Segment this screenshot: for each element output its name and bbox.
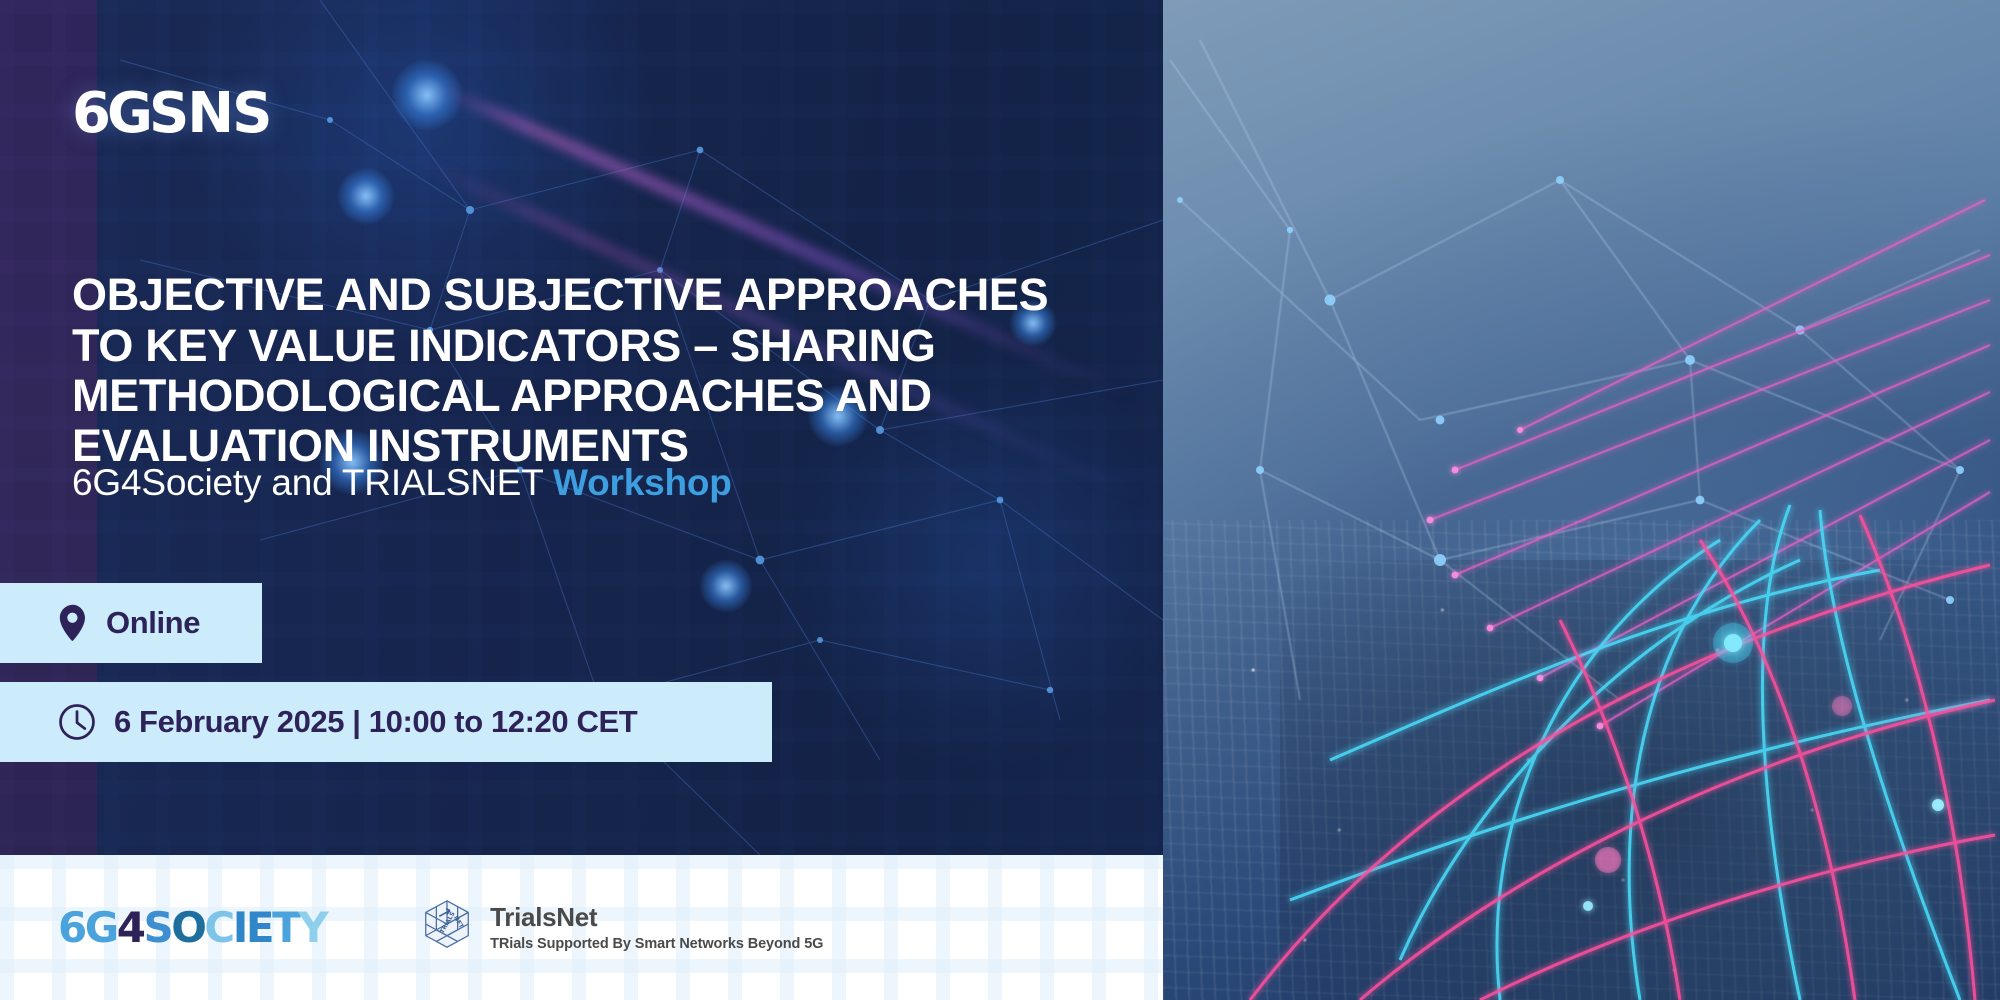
soc-seg-6g: 6G [58,907,117,949]
glow-blob [338,168,394,224]
datetime-badge: 6 February 2025 | 10:00 to 12:20 CET [0,682,772,762]
soc-seg-t: T [272,907,298,949]
page-title: OBJECTIVE AND SUBJECTIVE APPROACHES TO K… [72,270,1092,472]
sns-logo: 6GSNS [72,86,270,142]
trialsnet-cube-icon: TRIALS NET [418,896,476,959]
glow-blob [392,60,462,130]
sns-logo-6g: 6G [72,81,149,146]
soc-seg-o: O [171,907,204,949]
glow-blob [700,560,752,612]
soc-seg-i: I [233,907,246,949]
subtitle-plain: 6G4Society and TRIALSNET [72,462,553,503]
clock-icon [58,703,96,741]
trialsnet-name: TrialsNet [490,903,823,932]
trialsnet-tagline: TRials Supported By Smart Networks Beyon… [490,936,823,952]
soc-seg-c: C [204,907,232,949]
datetime-badge-label: 6 February 2025 | 10:00 to 12:20 CET [114,704,637,740]
soc-seg-4: 4 [117,907,144,949]
location-badge-label: Online [106,605,200,641]
trialsnet-logo: TRIALS NET TrialsNet TRials Supported By… [418,896,823,959]
6g4society-logo: 6G4SOCIETY [58,907,326,949]
subtitle-accent: Workshop [553,462,732,503]
footer-bar: 6G4SOCIETY [0,855,1163,1000]
location-badge: Online [0,583,262,663]
location-pin-icon [58,604,88,642]
event-banner: 6GSNS OBJECTIVE AND SUBJECTIVE APPROACHE… [0,0,2000,1000]
subtitle: 6G4Society and TRIALSNET Workshop [72,462,732,504]
soc-seg-s: S [143,907,171,949]
soc-seg-e: E [246,907,272,949]
soc-seg-y: Y [298,907,326,949]
sns-logo-sns: SNS [149,81,271,146]
